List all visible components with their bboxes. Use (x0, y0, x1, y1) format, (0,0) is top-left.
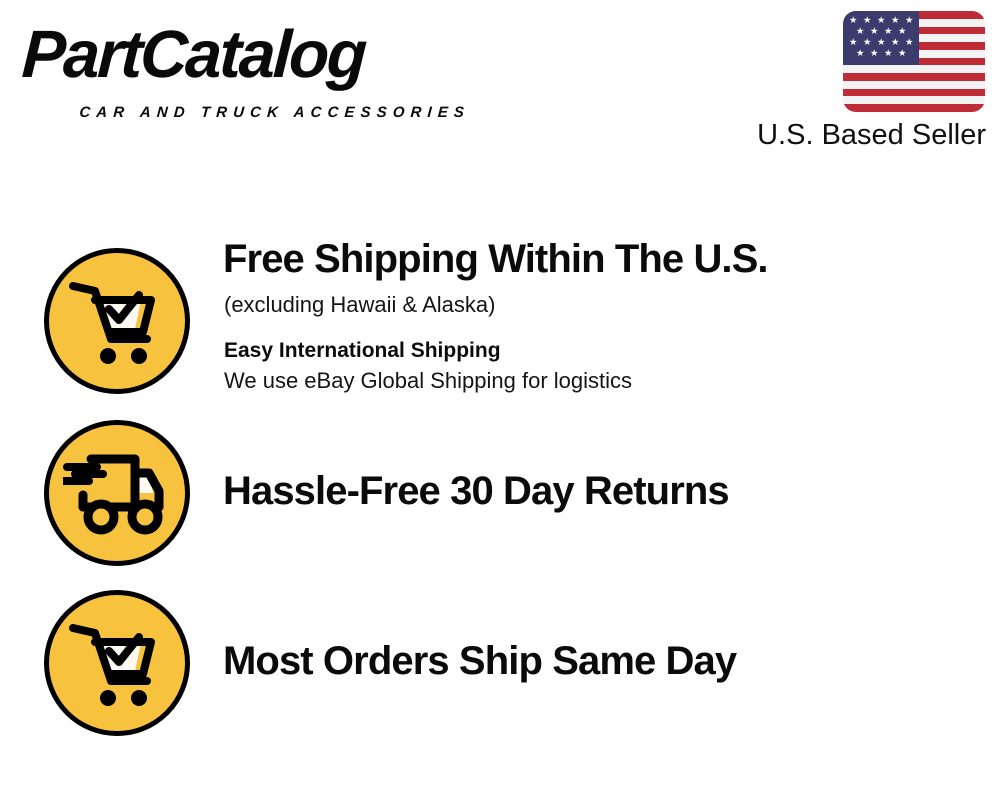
flag-star: ★ (905, 16, 913, 25)
flag-star: ★ (870, 27, 878, 36)
brand-tagline: CAR AND TRUCK ACCESSORIES (79, 104, 471, 121)
us-based-seller-label: U.S. Based Seller (722, 117, 986, 153)
feature-note: (excluding Hawaii & Alaska) (224, 290, 495, 320)
flag-star: ★ (877, 16, 885, 25)
flag-stripe (843, 89, 985, 97)
feature-row: Free Shipping Within The U.S. (excluding… (0, 248, 1000, 398)
shopping-cart-check-icon (44, 590, 190, 736)
flag-stripe (843, 65, 985, 73)
flag-stripe (843, 81, 985, 89)
flag-star: ★ (863, 16, 871, 25)
flag-star: ★ (898, 27, 906, 36)
flag-stripe (843, 104, 985, 112)
feature-heading: Most Orders Ship Same Day (223, 638, 736, 685)
delivery-truck-icon (44, 420, 190, 566)
flag-star: ★ (905, 38, 913, 47)
feature-heading: Free Shipping Within The U.S. (223, 236, 768, 283)
flag-star: ★ (849, 16, 857, 25)
feature-sub-title: Easy International Shipping (224, 335, 501, 366)
page-header: PartCatalog CAR AND TRUCK ACCESSORIES ★ … (0, 0, 1000, 175)
flag-canton: ★ ★ ★ ★ ★ ★ ★ ★ ★ ★ ★ ★ ★ ★ ★ ★ ★ ★ (843, 11, 919, 65)
flag-star: ★ (898, 49, 906, 58)
flag-star: ★ (849, 38, 857, 47)
feature-sub-desc: We use eBay Global Shipping for logistic… (224, 366, 632, 396)
flag-star: ★ (891, 16, 899, 25)
feature-heading: Hassle-Free 30 Day Returns (223, 468, 729, 515)
flag-star: ★ (870, 49, 878, 58)
flag-star: ★ (884, 27, 892, 36)
feature-row: Hassle-Free 30 Day Returns (0, 420, 1000, 570)
flag-stripe (843, 96, 985, 104)
feature-row: Most Orders Ship Same Day (0, 590, 1000, 740)
shopping-cart-check-icon (44, 248, 190, 394)
flag-star: ★ (856, 27, 864, 36)
flag-star: ★ (877, 38, 885, 47)
us-flag-icon: ★ ★ ★ ★ ★ ★ ★ ★ ★ ★ ★ ★ ★ ★ ★ ★ ★ ★ (843, 11, 985, 112)
flag-stripe (843, 73, 985, 81)
flag-star: ★ (856, 49, 864, 58)
flag-star: ★ (863, 38, 871, 47)
brand-wordmark: PartCatalog (20, 18, 366, 92)
flag-star: ★ (884, 49, 892, 58)
flag-star: ★ (891, 38, 899, 47)
brand-logo[interactable]: PartCatalog CAR AND TRUCK ACCESSORIES (24, 18, 494, 118)
